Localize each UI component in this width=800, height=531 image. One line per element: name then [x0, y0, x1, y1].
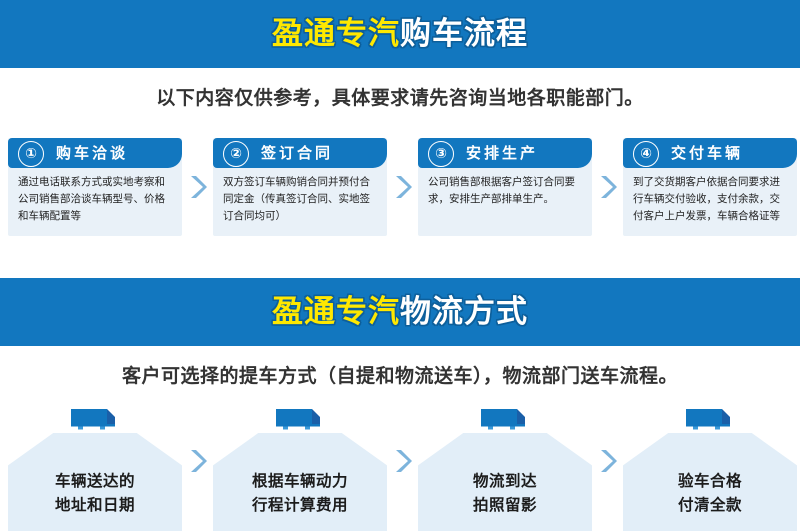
logistics-step-line2: 行程计算费用	[213, 493, 387, 517]
purchase-step-card: ④ 交付车辆 到了交货期客户依据合同要求进行车辆交付验收，支付余款，交付客户上户…	[623, 138, 797, 236]
logistics-section-banner: 盈通专汽物流方式	[0, 278, 800, 346]
logistics-step-line1: 物流到达	[418, 469, 592, 493]
purchase-step-card: ③ 安排生产 公司销售部根据客户签订合同要求，安排生产部排单生产。	[418, 138, 592, 236]
purchase-step-title: 安排生产	[466, 144, 538, 162]
purchase-step-title: 购车洽谈	[56, 144, 128, 162]
purchase-step-number: ④	[633, 141, 659, 167]
chevron-right-icon	[387, 406, 418, 531]
logistics-step-line1: 验车合格	[623, 469, 797, 493]
purchase-step-body: 双方签订车辆购销合同并预付合同定金（传真签订合同、实地签订合同均可）	[223, 174, 379, 225]
purchase-step-body: 公司销售部根据客户签订合同要求，安排生产部排单生产。	[428, 174, 584, 208]
purchase-step-number: ③	[428, 141, 454, 167]
logistics-step-line2: 拍照留影	[418, 493, 592, 517]
purchase-section-banner: 盈通专汽购车流程	[0, 0, 800, 68]
infographic-page: 盈通专汽购车流程 以下内容仅供参考，具体要求请先咨询当地各职能部门。 ① 购车洽…	[0, 0, 800, 531]
purchase-banner-title-brand: 盈通专汽	[272, 16, 400, 52]
logistics-banner-title-rest: 物流方式	[400, 294, 528, 330]
logistics-step-text: 车辆送达的 地址和日期	[8, 469, 182, 517]
logistics-step-line2: 付清全款	[623, 493, 797, 517]
logistics-step-line2: 地址和日期	[8, 493, 182, 517]
logistics-step-card: 验车合格 付清全款	[623, 406, 797, 531]
logistics-step-line1: 车辆送达的	[8, 469, 182, 493]
logistics-banner-title: 盈通专汽物流方式	[272, 297, 528, 328]
purchase-step-number: ②	[223, 141, 249, 167]
logistics-subtitle: 客户可选择的提车方式（自提和物流送车），物流部门送车流程。	[0, 361, 800, 388]
chevron-right-icon	[387, 138, 418, 236]
purchase-step-card: ① 购车洽谈 通过电话联系方式或实地考察和公司销售部洽谈车辆型号、价格和车辆配置…	[8, 138, 182, 236]
chevron-right-icon	[182, 138, 213, 236]
logistics-steps-row: 车辆送达的 地址和日期 根据车辆动力 行程计算	[8, 406, 792, 531]
purchase-step-number: ①	[18, 141, 44, 167]
chevron-right-icon	[592, 406, 623, 531]
logistics-step-text: 验车合格 付清全款	[623, 469, 797, 517]
logistics-step-card: 根据车辆动力 行程计算费用	[213, 406, 387, 531]
truck-icon	[274, 406, 326, 434]
chevron-right-icon	[182, 406, 213, 531]
truck-icon	[69, 406, 121, 434]
truck-icon	[684, 406, 736, 434]
purchase-step-body: 通过电话联系方式或实地考察和公司销售部洽谈车辆型号、价格和车辆配置等	[18, 174, 174, 225]
logistics-step-card: 车辆送达的 地址和日期	[8, 406, 182, 531]
logistics-step-text: 物流到达 拍照留影	[418, 469, 592, 517]
purchase-step-title: 交付车辆	[671, 144, 743, 162]
purchase-steps-row: ① 购车洽谈 通过电话联系方式或实地考察和公司销售部洽谈车辆型号、价格和车辆配置…	[8, 138, 792, 243]
logistics-step-line1: 根据车辆动力	[213, 469, 387, 493]
purchase-step-body: 到了交货期客户依据合同要求进行车辆交付验收，支付余款，交付客户上户发票，车辆合格…	[633, 174, 789, 225]
purchase-banner-title: 盈通专汽购车流程	[272, 19, 528, 50]
truck-icon	[479, 406, 531, 434]
logistics-step-card: 物流到达 拍照留影	[418, 406, 592, 531]
purchase-banner-title-rest: 购车流程	[400, 16, 528, 52]
logistics-step-text: 根据车辆动力 行程计算费用	[213, 469, 387, 517]
purchase-subtitle: 以下内容仅供参考，具体要求请先咨询当地各职能部门。	[0, 83, 800, 110]
logistics-banner-title-brand: 盈通专汽	[272, 294, 400, 330]
chevron-right-icon	[592, 138, 623, 236]
purchase-step-title: 签订合同	[261, 144, 333, 162]
purchase-step-card: ② 签订合同 双方签订车辆购销合同并预付合同定金（传真签订合同、实地签订合同均可…	[213, 138, 387, 236]
